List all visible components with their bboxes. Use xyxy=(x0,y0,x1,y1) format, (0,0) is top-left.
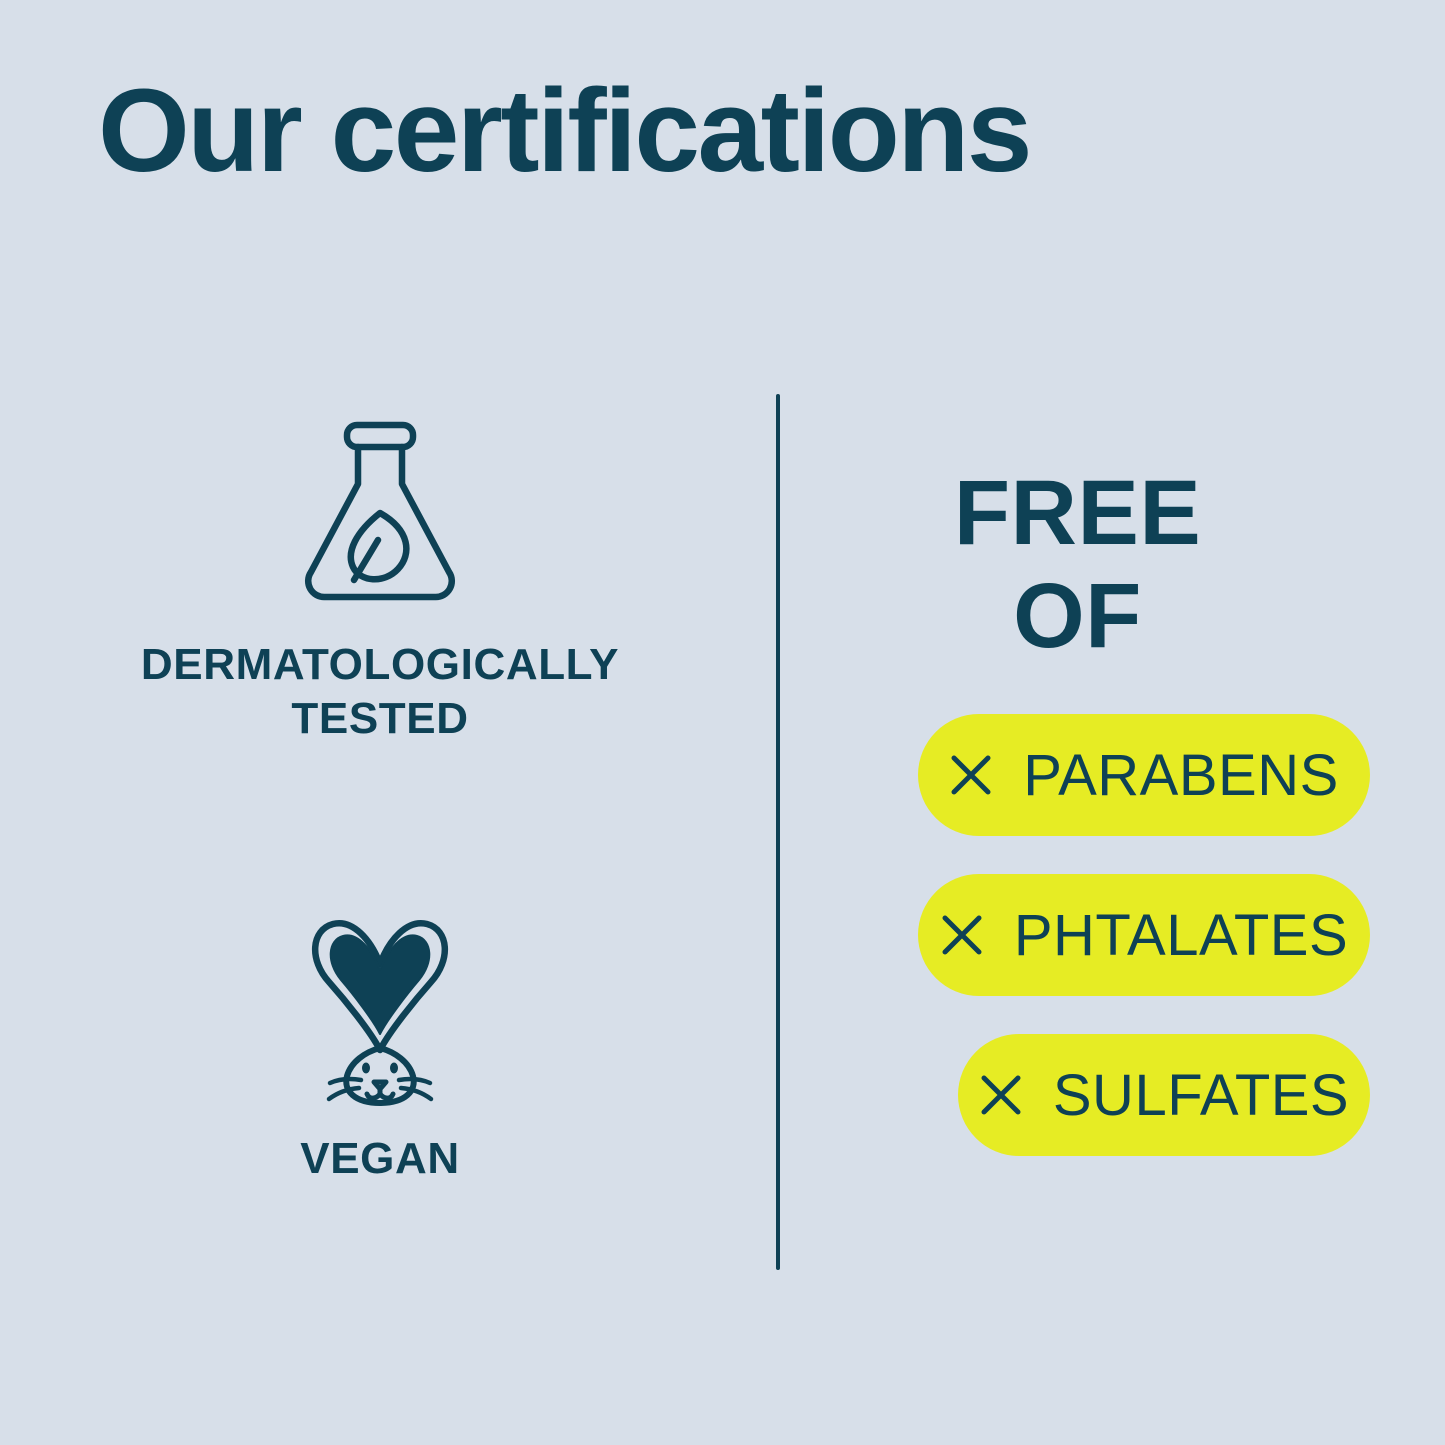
free-of-item-label: PHTALATES xyxy=(1014,902,1348,969)
x-mark-icon xyxy=(979,1073,1023,1117)
x-mark-icon xyxy=(940,913,984,957)
free-of-item-parabens[interactable]: PARABENS xyxy=(918,714,1370,836)
certification-label: DERMATOLOGICALLY TESTED xyxy=(0,638,760,745)
vertical-divider xyxy=(776,394,780,1270)
free-of-heading-line2: OF xyxy=(800,565,1355,668)
free-of-column: FREE OF PARABENS PHTALATES SULFATE xyxy=(800,390,1400,1270)
certification-vegan: VEGAN xyxy=(0,910,760,1186)
x-mark-icon xyxy=(949,753,993,797)
certification-label: VEGAN xyxy=(0,1132,760,1186)
free-of-list: PARABENS PHTALATES SULFATES xyxy=(800,714,1370,1156)
free-of-item-sulfates[interactable]: SULFATES xyxy=(958,1034,1370,1156)
certification-label-line1: DERMATOLOGICALLY xyxy=(141,640,619,689)
free-of-heading-line1: FREE xyxy=(954,462,1201,564)
certification-label-line2: TESTED xyxy=(291,694,468,743)
free-of-item-label: PARABENS xyxy=(1023,742,1339,809)
page-title: Our certifications xyxy=(98,72,1030,190)
free-of-heading: FREE OF xyxy=(800,462,1355,668)
free-of-item-label: SULFATES xyxy=(1053,1062,1349,1129)
bunny-heart-ears-icon xyxy=(285,910,475,1110)
certifications-column: DERMATOLOGICALLY TESTED xyxy=(0,390,760,1270)
certifications-panel: Our certifications DERMATOLOGICALLY TEST… xyxy=(0,0,1445,1445)
free-of-item-phtalates[interactable]: PHTALATES xyxy=(918,874,1370,996)
flask-leaf-icon xyxy=(290,412,470,612)
certification-dermatologically-tested: DERMATOLOGICALLY TESTED xyxy=(0,412,760,745)
